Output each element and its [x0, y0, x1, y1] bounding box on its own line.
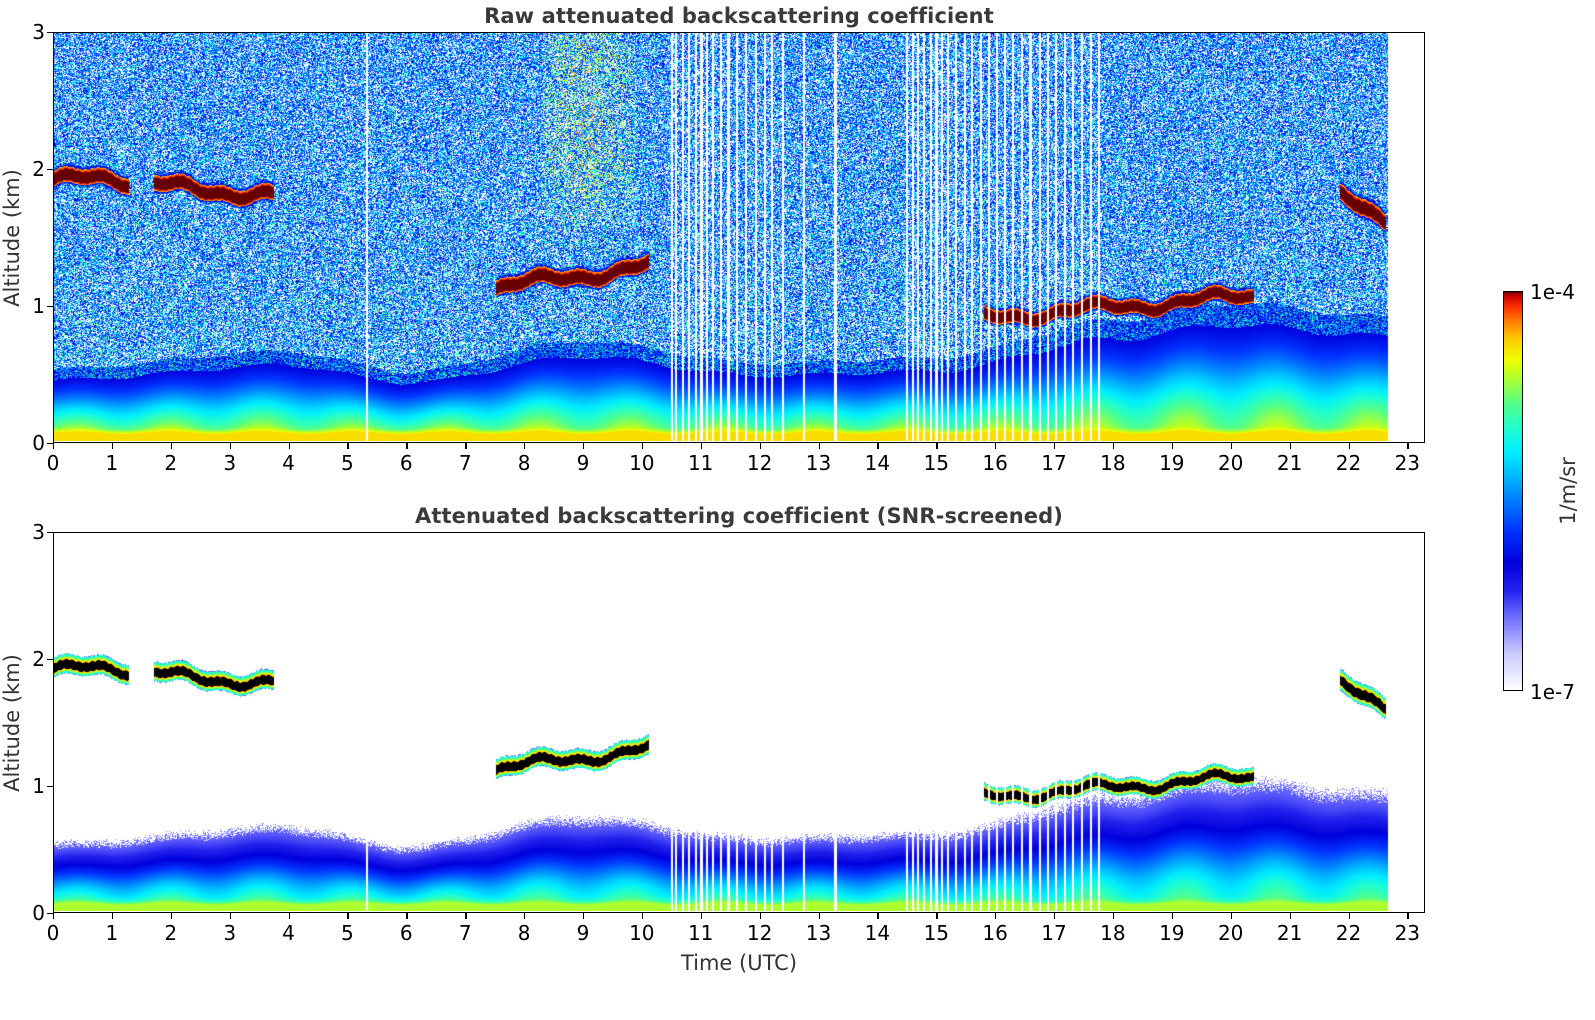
- x-tick: [1407, 913, 1408, 919]
- x-tick-label: 23: [1395, 921, 1420, 945]
- x-tick-label: 19: [1159, 451, 1184, 475]
- x-tick-label: 3: [223, 921, 236, 945]
- x-tick: [1231, 443, 1232, 449]
- colorbar-title: 1/m/sr: [1556, 457, 1580, 525]
- x-tick: [289, 443, 290, 449]
- x-tick-label: 17: [1041, 451, 1066, 475]
- x-tick-label: 16: [982, 921, 1007, 945]
- x-axis-title: Time (UTC): [681, 951, 797, 975]
- x-tick-label: 20: [1218, 921, 1243, 945]
- x-tick: [1113, 443, 1114, 449]
- x-tick-label: 6: [400, 451, 413, 475]
- y-tick-label: 0: [5, 901, 45, 925]
- x-tick: [819, 913, 820, 919]
- x-tick-label: 5: [341, 451, 354, 475]
- x-tick-label: 4: [282, 921, 295, 945]
- x-tick-label: 1: [106, 451, 119, 475]
- x-tick: [1349, 913, 1350, 919]
- x-tick: [1290, 443, 1291, 449]
- x-tick-label: 7: [459, 921, 472, 945]
- colorbar: [1503, 291, 1523, 691]
- x-tick: [1054, 443, 1055, 449]
- x-tick-label: 1: [106, 921, 119, 945]
- x-tick: [936, 913, 937, 919]
- x-tick-label: 17: [1041, 921, 1066, 945]
- x-tick: [289, 913, 290, 919]
- x-tick-label: 8: [518, 921, 531, 945]
- x-tick-label: 22: [1336, 451, 1361, 475]
- colorbar-max-label: 1e-4: [1530, 280, 1575, 304]
- x-tick: [760, 443, 761, 449]
- x-tick: [1054, 913, 1055, 919]
- x-tick: [819, 443, 820, 449]
- plot-axes-raw: [53, 32, 1425, 443]
- x-tick: [524, 443, 525, 449]
- colorbar-gradient: [1503, 291, 1523, 691]
- y-tick-label: 0: [5, 431, 45, 455]
- x-tick-label: 7: [459, 451, 472, 475]
- x-tick: [877, 913, 878, 919]
- x-tick: [171, 443, 172, 449]
- x-tick-label: 11: [688, 451, 713, 475]
- x-tick-label: 22: [1336, 921, 1361, 945]
- x-tick-label: 15: [924, 921, 949, 945]
- panel-title-screened: Attenuated backscattering coefficient (S…: [53, 504, 1425, 528]
- x-tick: [347, 443, 348, 449]
- x-tick-label: 19: [1159, 921, 1184, 945]
- x-tick: [701, 913, 702, 919]
- x-tick-label: 18: [1100, 451, 1125, 475]
- y-tick: [47, 32, 53, 33]
- x-tick-label: 0: [47, 451, 60, 475]
- y-tick: [47, 786, 53, 787]
- x-tick: [230, 443, 231, 449]
- x-tick: [112, 443, 113, 449]
- y-tick: [47, 443, 53, 444]
- x-tick-label: 13: [806, 921, 831, 945]
- x-tick: [171, 913, 172, 919]
- x-tick: [760, 913, 761, 919]
- x-tick: [583, 913, 584, 919]
- x-tick: [995, 443, 996, 449]
- x-tick-label: 14: [865, 921, 890, 945]
- x-tick: [1172, 443, 1173, 449]
- x-tick-label: 12: [747, 921, 772, 945]
- x-tick-label: 9: [577, 921, 590, 945]
- x-tick-label: 3: [223, 451, 236, 475]
- figure-canvas: Raw attenuated backscattering coefficien…: [0, 0, 1595, 1020]
- x-tick-label: 10: [629, 451, 654, 475]
- y-tick-label: 3: [5, 20, 45, 44]
- x-tick-label: 4: [282, 451, 295, 475]
- x-tick: [1290, 913, 1291, 919]
- y-tick: [47, 169, 53, 170]
- y-tick: [47, 306, 53, 307]
- x-tick: [465, 913, 466, 919]
- x-tick: [583, 443, 584, 449]
- x-tick-label: 14: [865, 451, 890, 475]
- x-tick: [642, 443, 643, 449]
- x-tick: [1172, 913, 1173, 919]
- x-tick: [1349, 443, 1350, 449]
- plot-axes-screened: [53, 532, 1425, 913]
- colorbar-min-label: 1e-7: [1530, 680, 1575, 704]
- x-tick-label: 18: [1100, 921, 1125, 945]
- y-tick-label: 3: [5, 520, 45, 544]
- x-tick: [936, 443, 937, 449]
- y-tick: [47, 532, 53, 533]
- x-tick-label: 6: [400, 921, 413, 945]
- x-tick: [995, 913, 996, 919]
- x-tick: [1113, 913, 1114, 919]
- x-tick: [112, 913, 113, 919]
- x-tick-label: 2: [164, 921, 177, 945]
- x-tick-label: 12: [747, 451, 772, 475]
- y-tick: [47, 659, 53, 660]
- x-tick-label: 16: [982, 451, 1007, 475]
- x-tick: [230, 913, 231, 919]
- x-tick-label: 10: [629, 921, 654, 945]
- panel-title-raw: Raw attenuated backscattering coefficien…: [53, 4, 1425, 28]
- x-tick: [406, 913, 407, 919]
- x-tick: [406, 443, 407, 449]
- x-tick: [642, 913, 643, 919]
- x-tick-label: 9: [577, 451, 590, 475]
- x-tick: [53, 913, 54, 919]
- x-tick-label: 11: [688, 921, 713, 945]
- y-axis-title: Altitude (km): [0, 654, 24, 792]
- x-tick-label: 2: [164, 451, 177, 475]
- y-tick: [47, 913, 53, 914]
- x-tick: [347, 913, 348, 919]
- heatmap-raw: [54, 33, 1423, 441]
- x-tick-label: 20: [1218, 451, 1243, 475]
- x-tick: [1231, 913, 1232, 919]
- x-tick: [877, 443, 878, 449]
- x-tick: [701, 443, 702, 449]
- x-tick: [524, 913, 525, 919]
- x-tick-label: 23: [1395, 451, 1420, 475]
- x-tick-label: 8: [518, 451, 531, 475]
- x-tick: [465, 443, 466, 449]
- y-axis-title: Altitude (km): [0, 169, 24, 307]
- x-tick-label: 13: [806, 451, 831, 475]
- heatmap-screened: [54, 533, 1423, 911]
- x-tick-label: 0: [47, 921, 60, 945]
- x-tick-label: 21: [1277, 451, 1302, 475]
- x-tick-label: 15: [924, 451, 949, 475]
- x-tick: [53, 443, 54, 449]
- x-tick-label: 21: [1277, 921, 1302, 945]
- x-tick: [1407, 443, 1408, 449]
- x-tick-label: 5: [341, 921, 354, 945]
